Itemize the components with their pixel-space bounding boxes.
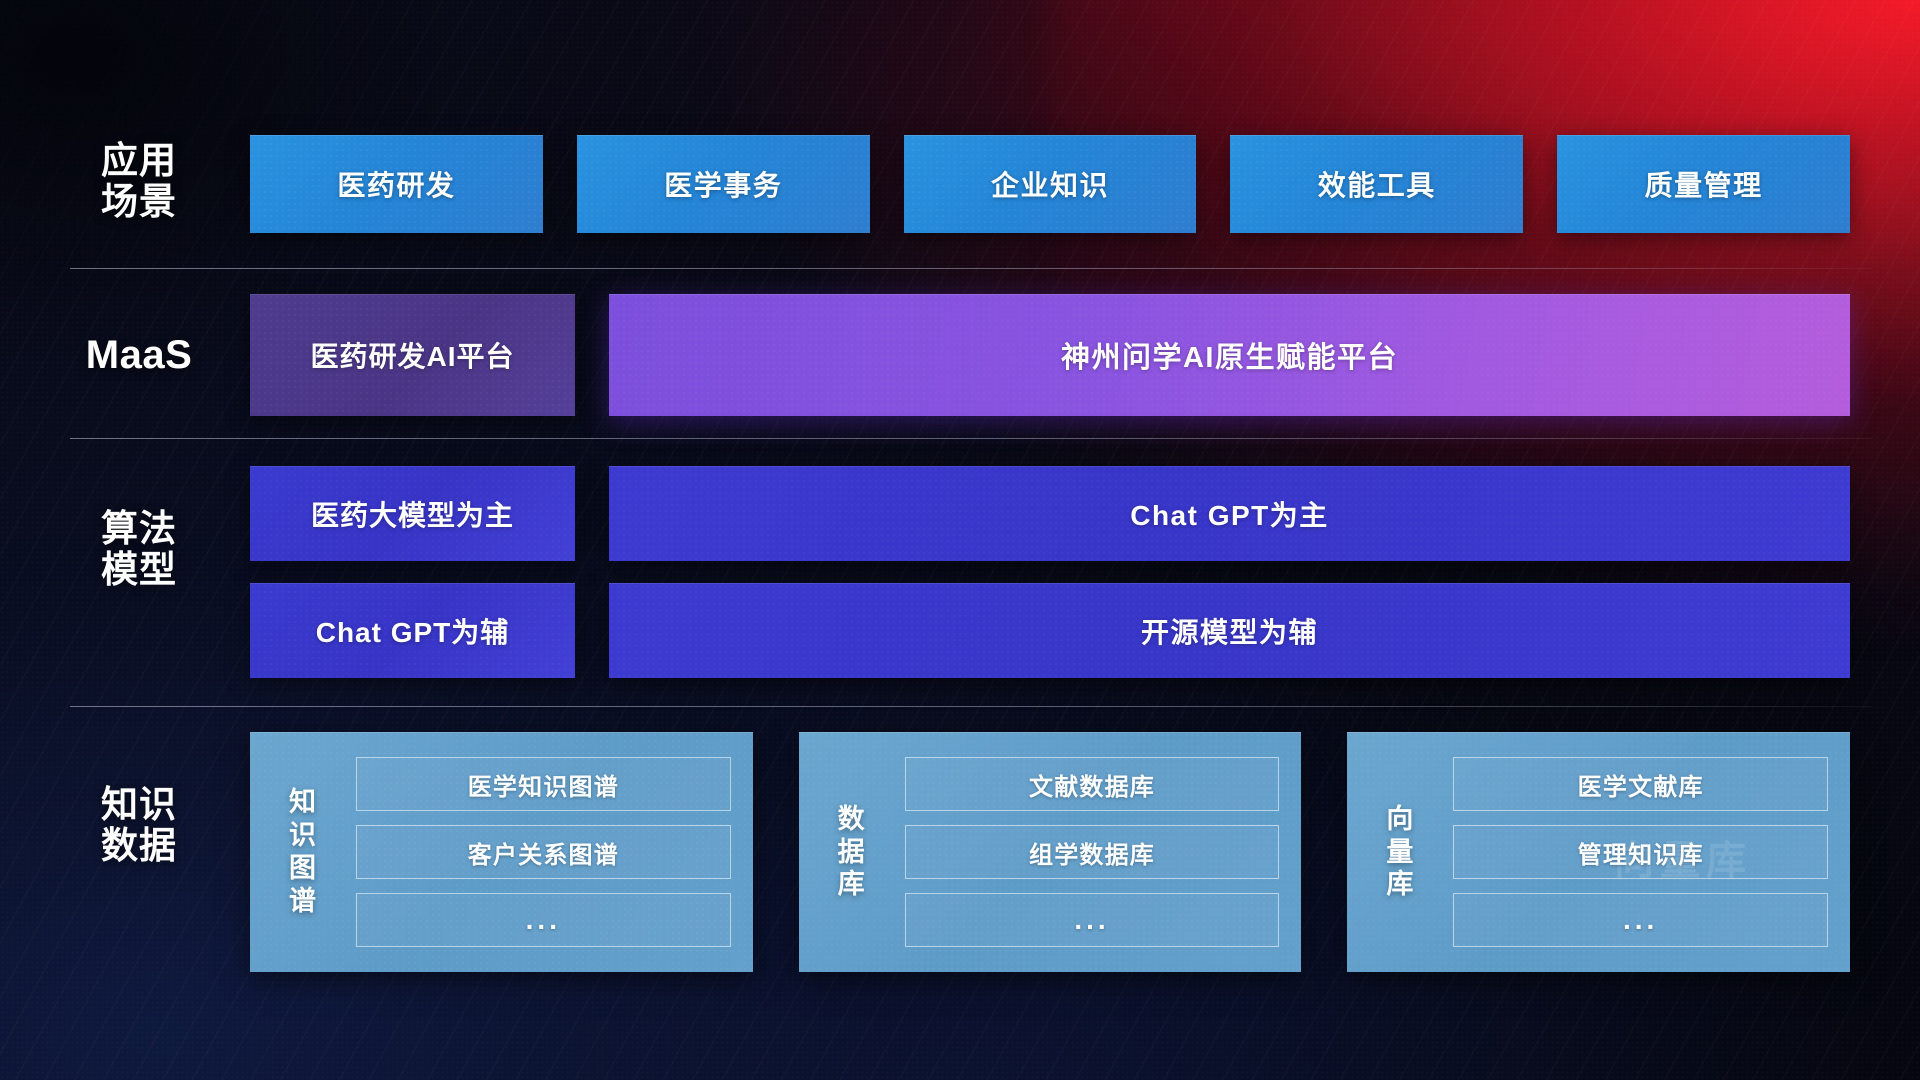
app-box-drug-rnd-label: 医药研发 bbox=[337, 164, 455, 204]
app-box-enterprise-knowledge[interactable]: 企业知识 bbox=[904, 135, 1197, 233]
app-box-enterprise-knowledge-label: 企业知识 bbox=[991, 164, 1109, 204]
algo-box-chatgpt-primary[interactable]: Chat GPT为主 bbox=[609, 466, 1850, 561]
knowledge-item-database-more[interactable]: ... bbox=[905, 893, 1280, 947]
knowledge-group-database-name-char3: 库 bbox=[838, 868, 866, 901]
knowledge-item-medical-graph[interactable]: 医学知识图谱 bbox=[356, 757, 731, 811]
knowledge-group-database-name-char2: 据 bbox=[838, 836, 866, 869]
row-label-knowledge-line2: 数据 bbox=[70, 825, 208, 866]
divider-application-maas bbox=[70, 268, 1872, 269]
knowledge-item-omics-db[interactable]: 组学数据库 bbox=[905, 825, 1280, 879]
knowledge-group-database-name: 数 据 库 bbox=[821, 748, 883, 956]
app-box-quality-management[interactable]: 质量管理 bbox=[1557, 135, 1850, 233]
divider-maas-algorithm bbox=[70, 438, 1872, 439]
architecture-diagram: 应用 场景 医药研发 医学事务 企业知识 效能工具 质量管理 MaaS 医药研发… bbox=[0, 0, 1920, 1080]
maas-box-shenzhou-platform-label: 神州问学AI原生赋能平台 bbox=[1061, 334, 1398, 376]
knowledge-group-graph-name-char3: 图 bbox=[289, 852, 317, 885]
knowledge-item-vector-store-more[interactable]: ... bbox=[1453, 893, 1828, 947]
algorithm-model-row: 医药大模型为主 Chat GPT为主 Chat GPT为辅 开源模型为辅 bbox=[250, 466, 1850, 678]
knowledge-group-graph-items: 医学知识图谱 客户关系图谱 ... bbox=[334, 748, 731, 956]
application-scenario-row: 医药研发 医学事务 企业知识 效能工具 质量管理 bbox=[250, 135, 1850, 233]
row-label-knowledge-line1: 知识 bbox=[70, 784, 208, 825]
knowledge-group-vector-store-name-char1: 向 bbox=[1386, 803, 1414, 836]
app-box-efficiency-tools-label: 效能工具 bbox=[1318, 164, 1436, 204]
algo-box-medical-llm-primary[interactable]: 医药大模型为主 bbox=[250, 466, 575, 561]
knowledge-item-medical-literature[interactable]: 医学文献库 bbox=[1453, 757, 1828, 811]
knowledge-group-graph-name-char4: 谱 bbox=[289, 885, 317, 918]
algo-box-chatgpt-secondary-label: Chat GPT为辅 bbox=[316, 611, 510, 651]
algo-box-medical-llm-primary-label: 医药大模型为主 bbox=[311, 494, 514, 534]
knowledge-group-graph-name-char1: 知 bbox=[289, 786, 317, 819]
row-label-application: 应用 场景 bbox=[70, 140, 208, 223]
knowledge-group-vector-store-name-char2: 量 bbox=[1386, 836, 1414, 869]
knowledge-group-database-items: 文献数据库 组学数据库 ... bbox=[883, 748, 1280, 956]
app-box-efficiency-tools[interactable]: 效能工具 bbox=[1230, 135, 1523, 233]
knowledge-group-vector-store-name: 向 量 库 bbox=[1369, 748, 1431, 956]
knowledge-group-database-name-char1: 数 bbox=[838, 803, 866, 836]
knowledge-data-row: 知 识 图 谱 医学知识图谱 客户关系图谱 ... 数 据 库 bbox=[250, 732, 1850, 972]
knowledge-item-management-knowledge[interactable]: 管理知识库 bbox=[1453, 825, 1828, 879]
knowledge-group-vector-store[interactable]: 向 量 库 医学文献库 管理知识库 ... bbox=[1347, 732, 1850, 972]
algorithm-line-secondary: Chat GPT为辅 开源模型为辅 bbox=[250, 583, 1850, 678]
row-label-maas: MaaS bbox=[70, 333, 208, 378]
maas-row: 医药研发AI平台 神州问学AI原生赋能平台 bbox=[250, 294, 1850, 416]
knowledge-group-database[interactable]: 数 据 库 文献数据库 组学数据库 ... bbox=[799, 732, 1302, 972]
knowledge-group-graph-name-char2: 识 bbox=[289, 819, 317, 852]
knowledge-item-graph-more[interactable]: ... bbox=[356, 893, 731, 947]
app-box-drug-rnd[interactable]: 医药研发 bbox=[250, 135, 543, 233]
algo-box-opensource-secondary-label: 开源模型为辅 bbox=[1141, 611, 1318, 651]
knowledge-item-literature-db[interactable]: 文献数据库 bbox=[905, 757, 1280, 811]
row-label-knowledge: 知识 数据 bbox=[70, 784, 208, 867]
algo-box-chatgpt-secondary[interactable]: Chat GPT为辅 bbox=[250, 583, 575, 678]
row-label-algorithm-line2: 模型 bbox=[70, 549, 208, 590]
knowledge-group-graph[interactable]: 知 识 图 谱 医学知识图谱 客户关系图谱 ... bbox=[250, 732, 753, 972]
app-box-medical-affairs-label: 医学事务 bbox=[664, 164, 782, 204]
knowledge-group-graph-name: 知 识 图 谱 bbox=[272, 748, 334, 956]
row-label-application-line1: 应用 bbox=[70, 140, 208, 181]
maas-box-drug-ai-platform-label: 医药研发AI平台 bbox=[310, 335, 514, 375]
row-label-maas-line1: MaaS bbox=[70, 333, 208, 378]
divider-algorithm-knowledge bbox=[70, 706, 1872, 707]
row-label-algorithm-line1: 算法 bbox=[70, 508, 208, 549]
knowledge-group-vector-store-items: 医学文献库 管理知识库 ... bbox=[1431, 748, 1828, 956]
algorithm-line-primary: 医药大模型为主 Chat GPT为主 bbox=[250, 466, 1850, 561]
knowledge-item-customer-graph[interactable]: 客户关系图谱 bbox=[356, 825, 731, 879]
app-box-medical-affairs[interactable]: 医学事务 bbox=[577, 135, 870, 233]
algo-box-opensource-secondary[interactable]: 开源模型为辅 bbox=[609, 583, 1850, 678]
row-label-algorithm: 算法 模型 bbox=[70, 508, 208, 591]
knowledge-group-vector-store-name-char3: 库 bbox=[1386, 868, 1414, 901]
algo-box-chatgpt-primary-label: Chat GPT为主 bbox=[1130, 494, 1329, 534]
maas-box-drug-ai-platform[interactable]: 医药研发AI平台 bbox=[250, 294, 575, 416]
maas-box-shenzhou-platform[interactable]: 神州问学AI原生赋能平台 bbox=[609, 294, 1850, 416]
row-label-application-line2: 场景 bbox=[70, 181, 208, 222]
app-box-quality-management-label: 质量管理 bbox=[1645, 164, 1763, 204]
